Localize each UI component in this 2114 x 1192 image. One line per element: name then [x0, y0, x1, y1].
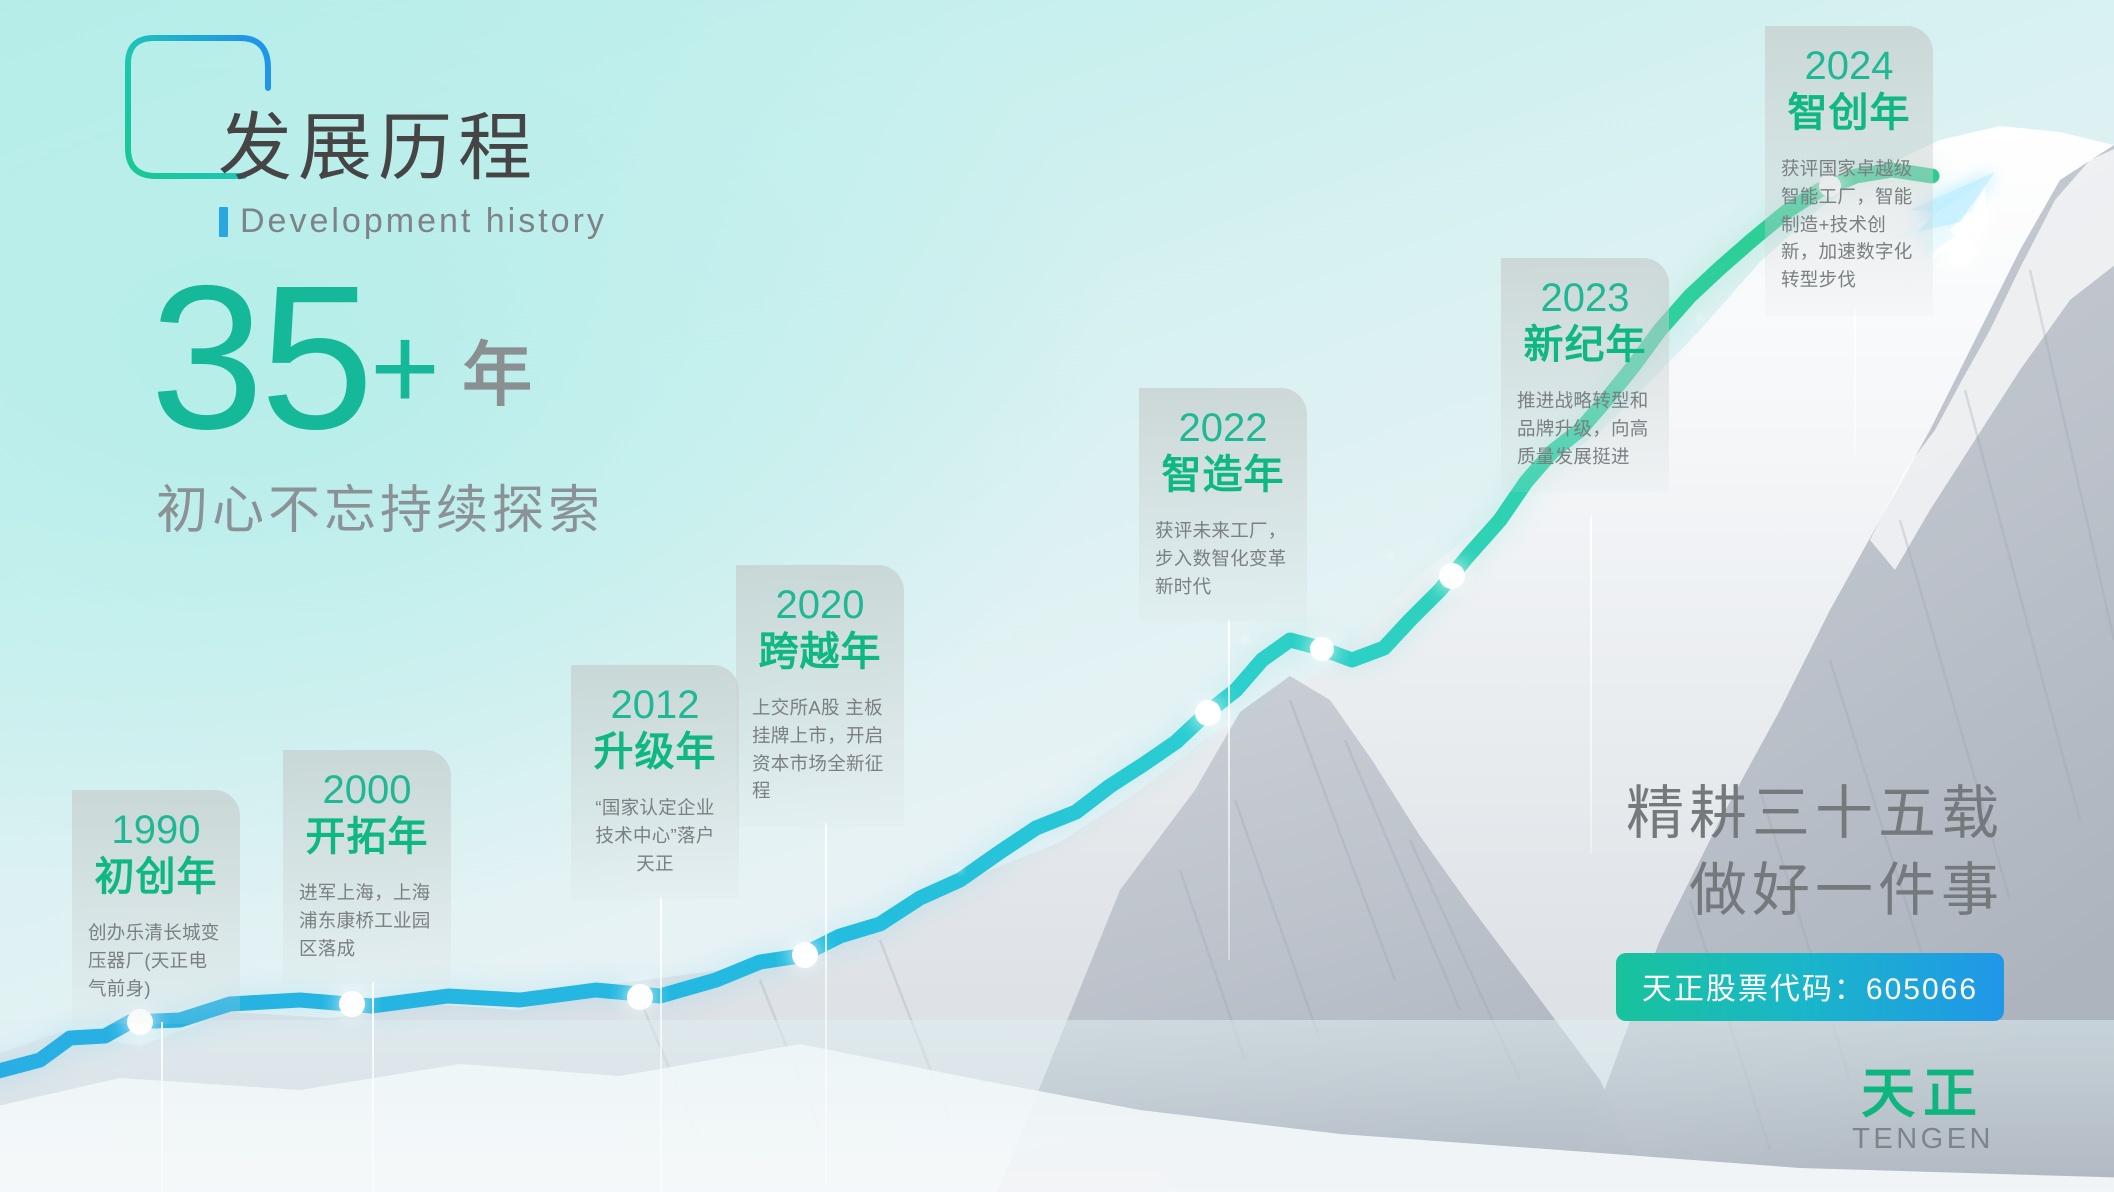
milestone-year: 2023: [1515, 276, 1655, 320]
years-stat-block: 35 + 年 初心不忘持续探索: [150, 270, 604, 543]
milestone-card[interactable]: 2012 升级年 “国家认定企业技术中心”落户天正: [571, 665, 739, 899]
milestone-year: 2022: [1153, 406, 1293, 450]
milestone-desc: 获评国家卓越级智能工厂，智能制造+技术创新，加速数字化转型步伐: [1779, 155, 1919, 294]
years-tagline: 初心不忘持续探索: [156, 468, 604, 543]
stock-code-badge[interactable]: 天正股票代码：605066: [1616, 953, 2004, 1021]
page-subtitle: Development history: [240, 202, 607, 241]
milestone-2000[interactable]: 2000 开拓年 进军上海，上海浦东康桥工业园区落成: [283, 750, 463, 984]
logo-name-cn: 天正: [1852, 1067, 1994, 1121]
milestone-desc: “国家认定企业技术中心”落户天正: [585, 794, 725, 877]
milestone-year: 2012: [585, 683, 725, 727]
page-subtitle-row: Development history: [219, 202, 607, 241]
milestone-2012[interactable]: 2012 升级年 “国家认定企业技术中心”落户天正: [571, 665, 751, 899]
milestone-title: 初创年: [86, 854, 226, 901]
milestone-card[interactable]: 2022 智造年 获评未来工厂，步入数智化变革新时代: [1139, 388, 1307, 622]
milestone-card[interactable]: 2024 智创年 获评国家卓越级智能工厂，智能制造+技术创新，加速数字化转型步伐: [1765, 26, 1933, 316]
atmospheric-haze: [0, 1020, 2114, 1192]
infographic-canvas: 发展历程 Development history 35 + 年 初心不忘持续探索…: [0, 0, 2114, 1192]
milestone-year: 2024: [1779, 44, 1919, 88]
milestone-title: 智造年: [1153, 452, 1293, 499]
years-unit: 年: [440, 319, 532, 446]
milestone-year: 2000: [297, 768, 437, 812]
milestone-card[interactable]: 2020 跨越年 上交所A股 主板挂牌上市，开启资本市场全新征程: [736, 565, 904, 827]
milestone-desc: 创办乐清长城变压器厂(天正电气前身): [86, 919, 226, 1002]
years-number: 35: [150, 270, 370, 446]
slogan-line-2: 做好一件事: [1616, 852, 2004, 929]
milestone-stem: [372, 982, 374, 1192]
milestone-2020[interactable]: 2020 跨越年 上交所A股 主板挂牌上市，开启资本市场全新征程: [736, 565, 916, 827]
subtitle-accent-bar: [219, 207, 228, 237]
milestone-stem: [1590, 516, 1592, 854]
milestone-card[interactable]: 2023 新纪年 推进战略转型和品牌升级，向高质量发展挺进: [1501, 258, 1669, 492]
milestone-title: 升级年: [585, 729, 725, 776]
milestone-title: 跨越年: [750, 629, 890, 676]
milestone-title: 新纪年: [1515, 322, 1655, 369]
company-logo[interactable]: 天正 TENGEN: [1852, 1067, 1994, 1154]
slogan-line-1: 精耕三十五载: [1616, 775, 2004, 852]
brand-slogan-block: 精耕三十五载 做好一件事 天正股票代码：605066: [1616, 775, 2004, 1021]
milestone-2023[interactable]: 2023 新纪年 推进战略转型和品牌升级，向高质量发展挺进: [1501, 258, 1681, 492]
milestone-stem: [825, 823, 827, 1183]
page-title: 发展历程: [218, 88, 538, 195]
milestone-title: 开拓年: [297, 814, 437, 861]
milestone-card[interactable]: 1990 初创年 创办乐清长城变压器厂(天正电气前身): [72, 790, 240, 1024]
years-stat-row: 35 + 年: [150, 270, 604, 446]
milestone-desc: 获评未来工厂，步入数智化变革新时代: [1153, 517, 1293, 600]
milestone-2024[interactable]: 2024 智创年 获评国家卓越级智能工厂，智能制造+技术创新，加速数字化转型步伐: [1765, 26, 1945, 316]
milestone-desc: 推进战略转型和品牌升级，向高质量发展挺进: [1515, 387, 1655, 470]
milestone-1990[interactable]: 1990 初创年 创办乐清长城变压器厂(天正电气前身): [72, 790, 252, 1024]
milestone-year: 1990: [86, 808, 226, 852]
logo-name-en: TENGEN: [1852, 1125, 1994, 1154]
years-plus-sign: +: [370, 308, 440, 446]
milestone-desc: 上交所A股 主板挂牌上市，开启资本市场全新征程: [750, 694, 890, 805]
milestone-2022[interactable]: 2022 智造年 获评未来工厂，步入数智化变革新时代: [1139, 388, 1319, 622]
milestone-stem: [161, 1022, 163, 1192]
milestone-title: 智创年: [1779, 90, 1919, 137]
milestone-desc: 进军上海，上海浦东康桥工业园区落成: [297, 879, 437, 962]
milestone-year: 2020: [750, 583, 890, 627]
milestone-card[interactable]: 2000 开拓年 进军上海，上海浦东康桥工业园区落成: [283, 750, 451, 984]
milestone-stem: [660, 897, 662, 1192]
milestone-stem: [1854, 308, 1856, 456]
milestone-stem: [1228, 620, 1230, 960]
